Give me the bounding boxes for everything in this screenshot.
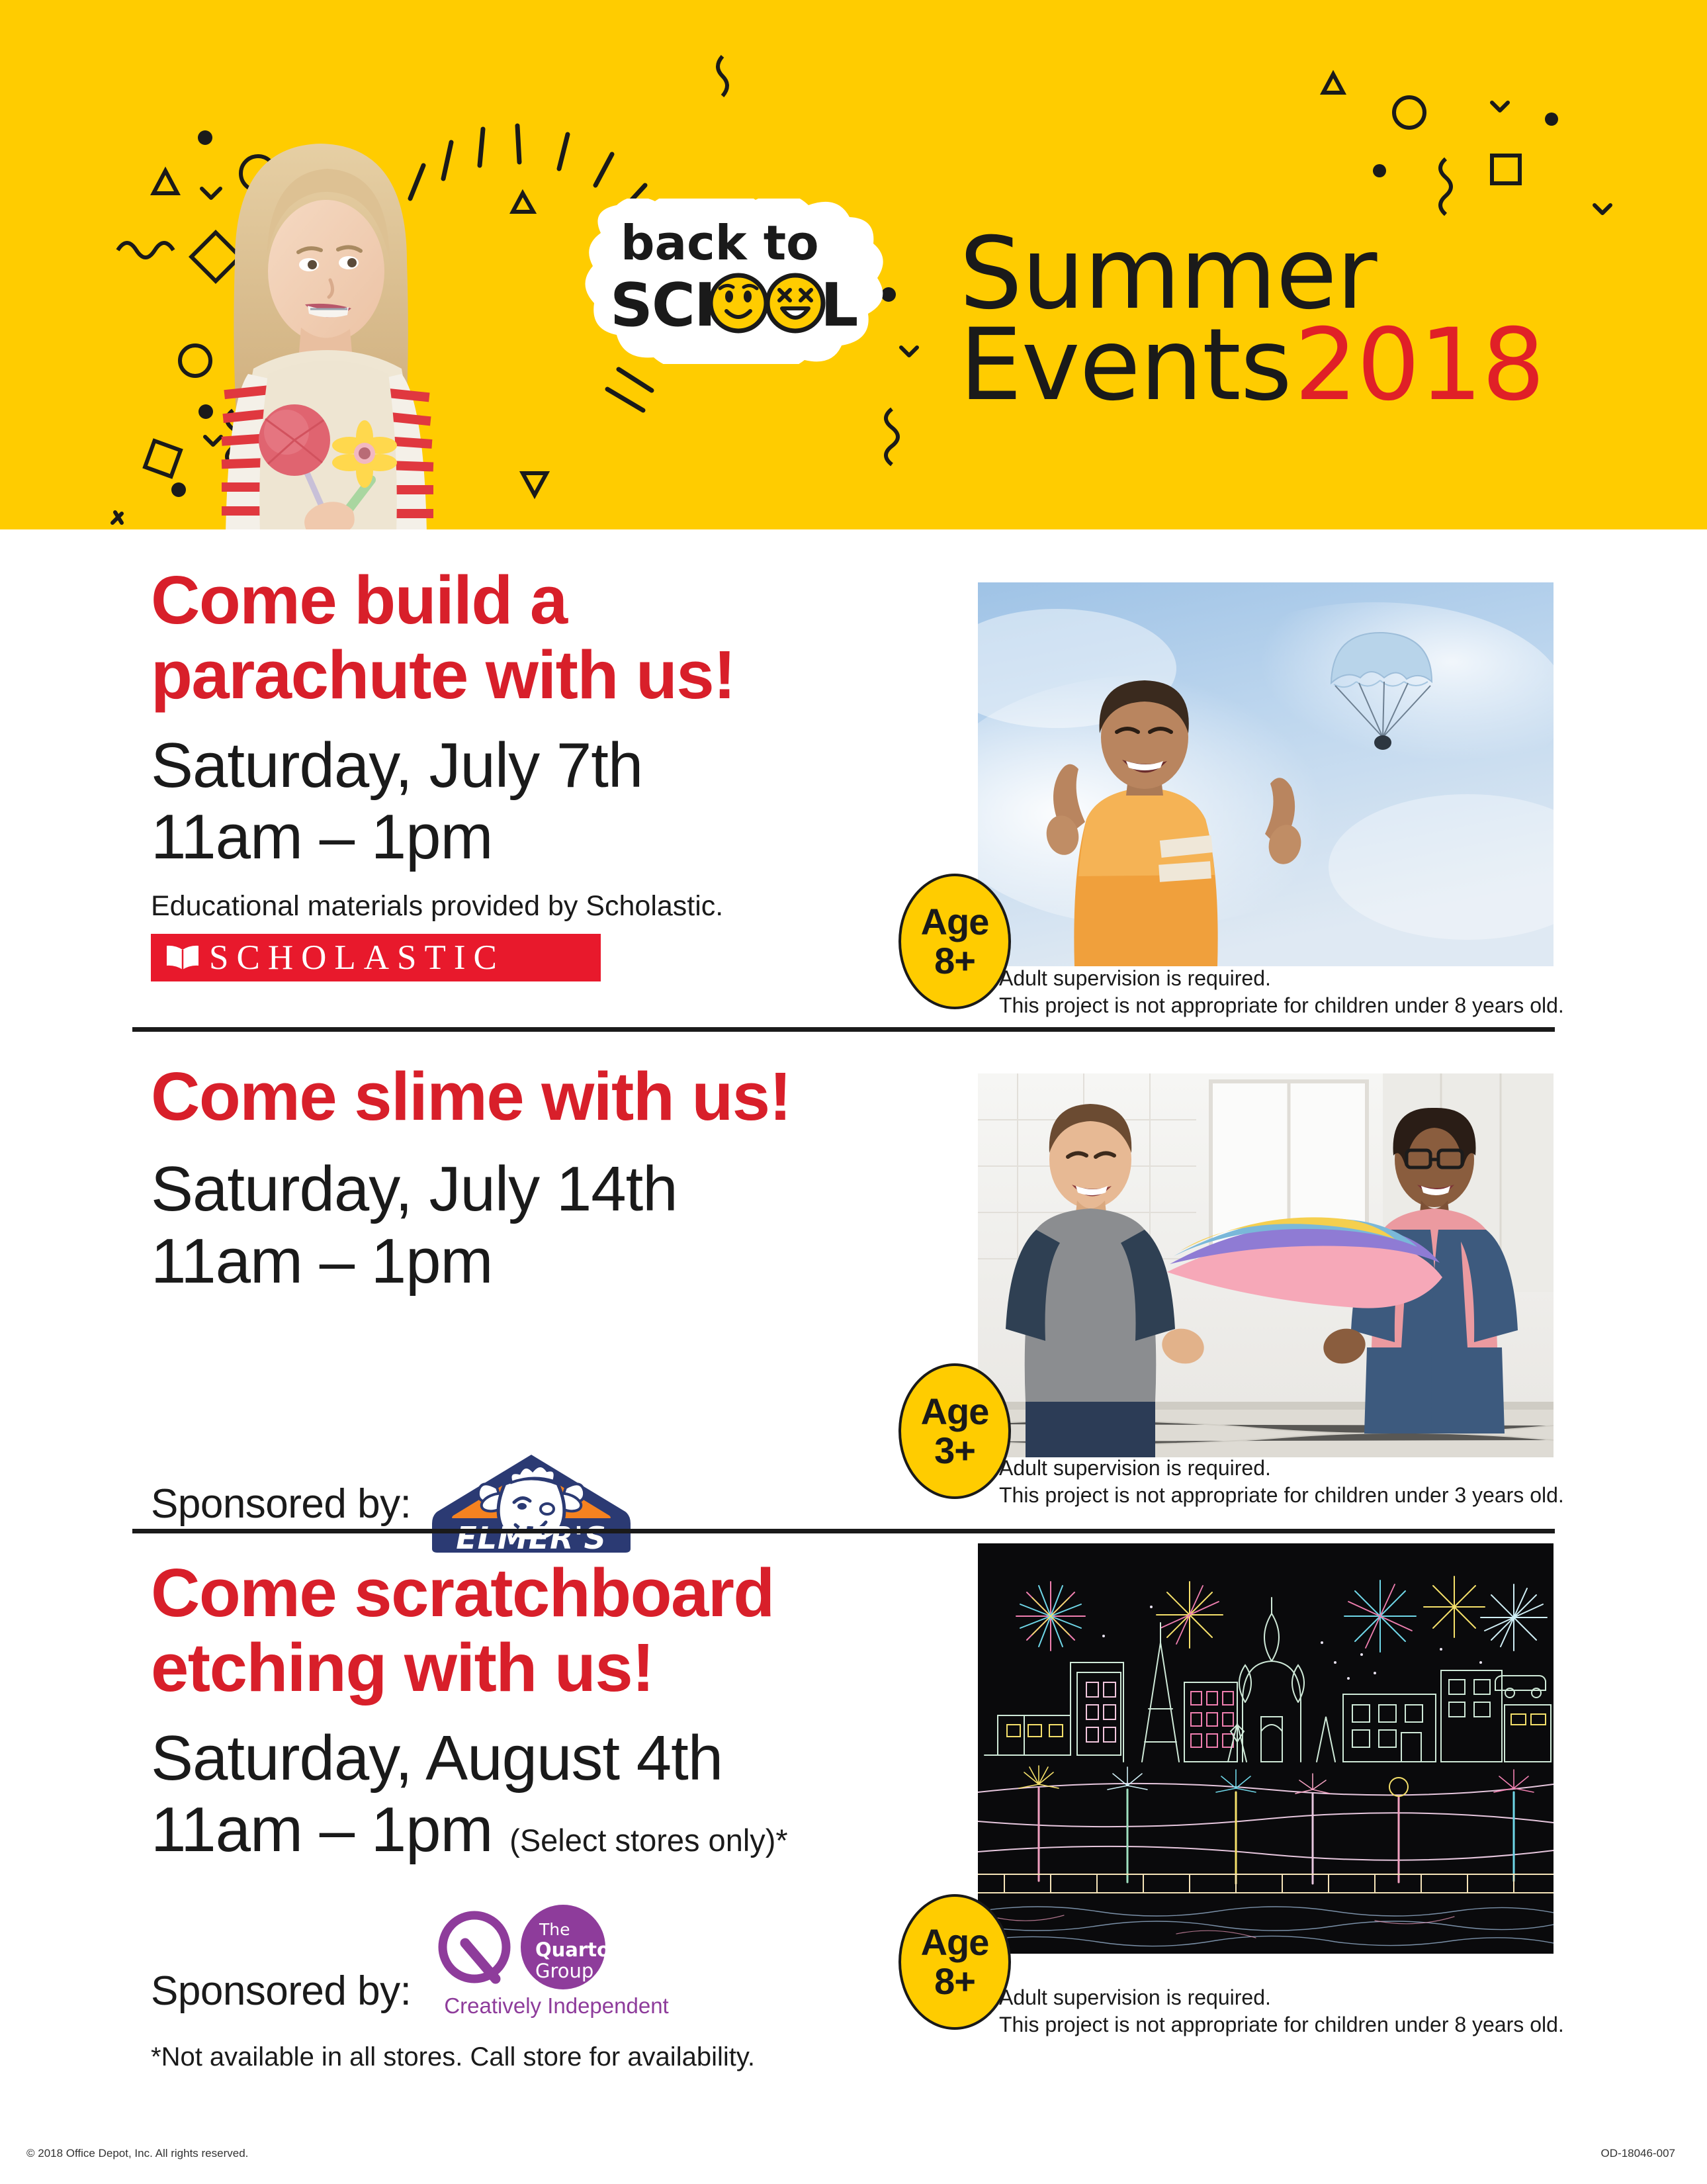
event-2-disclaimer: Adult supervision is required. This proj…: [999, 1455, 1564, 1509]
event-3-time: 11am – 1pm: [151, 1794, 493, 1865]
event-3-sponsor-label: Sponsored by:: [151, 1968, 411, 2019]
event-2-headline: Come slime with us!: [151, 1059, 932, 1134]
age-badge-label: Age: [921, 1392, 989, 1432]
divider-1: [132, 1027, 1555, 1032]
header-girl-photo: [169, 109, 473, 529]
age-badge-label: Age: [921, 1923, 989, 1962]
event-1-headline-line1: Come build a: [151, 563, 932, 637]
event-section-parachute: Come build a parachute with us! Saturday…: [0, 563, 1707, 1026]
event-3-disclaimer-line2: This project is not appropriate for chil…: [999, 2011, 1564, 2038]
event-2-sponsor-row: Sponsored by:: [151, 1451, 932, 1557]
sticker-line1-text: back to: [621, 215, 819, 271]
back-to-school-sticker: back to SCH: [582, 199, 953, 364]
age-badge-value: 3+: [934, 1432, 975, 1471]
event-3-disclaimer: Adult supervision is required. This proj…: [999, 1984, 1564, 2038]
event-2-disclaimer-line1: Adult supervision is required.: [999, 1455, 1564, 1482]
event-3-disclaimer-line1: Adult supervision is required.: [999, 1984, 1564, 2011]
age-badge-value: 8+: [934, 942, 975, 981]
title-line-summer: Summer: [959, 228, 1674, 320]
elmers-wordmark: ELMER'S: [457, 1520, 607, 1556]
event-2-disclaimer-line2: This project is not appropriate for chil…: [999, 1482, 1564, 1509]
event-1-subtext: Educational materials provided by Schola…: [151, 889, 932, 924]
event-1-disclaimer-line2: This project is not appropriate for chil…: [999, 992, 1564, 1019]
event-1-date: Saturday, July 7th: [151, 730, 932, 801]
event-1-headline-line2: parachute with us!: [151, 637, 932, 712]
event-2-text-block: Come slime with us! Saturday, July 14th …: [151, 1059, 932, 1557]
footer-copyright: © 2018 Office Depot, Inc. All rights res…: [26, 2147, 248, 2160]
header-title: Summer Events 2018: [959, 228, 1674, 411]
age-badge-value: 8+: [934, 1962, 975, 2001]
event-2-date: Saturday, July 14th: [151, 1154, 932, 1225]
svg-text:L: L: [820, 271, 858, 340]
event-1-photo: [978, 582, 1554, 966]
event-1-age-badge: Age 8+: [898, 874, 1011, 1009]
event-2-headline-line1: Come slime with us!: [151, 1059, 932, 1134]
event-3-headline: Come scratchboard etching with us!: [151, 1555, 932, 1706]
event-1-time: 11am – 1pm: [151, 801, 932, 873]
title-line-events: Events: [959, 308, 1291, 423]
event-3-text-block: Come scratchboard etching with us! Satur…: [151, 1555, 932, 2072]
event-3-footnote: *Not available in all stores. Call store…: [151, 2042, 932, 2072]
header-banner: back to SCH: [0, 0, 1707, 529]
event-1-disclaimer: Adult supervision is required. This proj…: [999, 965, 1564, 1019]
poster-root: back to SCH: [0, 0, 1707, 2184]
event-section-slime: Come slime with us! Saturday, July 14th …: [0, 1059, 1707, 1516]
elmers-logo: ELMER'S: [432, 1451, 631, 1557]
age-badge-label: Age: [921, 903, 989, 942]
event-1-headline: Come build a parachute with us!: [151, 563, 932, 713]
event-2-sponsor-label: Sponsored by:: [151, 1480, 411, 1527]
scholastic-wordmark: SCHOLASTIC: [209, 938, 505, 978]
scholastic-logo: SCHOLASTIC: [151, 934, 601, 981]
event-3-headline-line1: Come scratchboard: [151, 1555, 932, 1630]
event-3-age-badge: Age 8+: [898, 1894, 1011, 2030]
quarto-line3: Group: [535, 1960, 593, 1982]
title-year: 2018: [1294, 308, 1544, 423]
event-2-photo: [978, 1073, 1554, 1457]
event-3-headline-line2: etching with us!: [151, 1630, 932, 1705]
event-2-time: 11am – 1pm: [151, 1226, 932, 1297]
event-section-scratchboard: Come scratchboard etching with us! Satur…: [0, 1555, 1707, 2085]
event-3-time-row: 11am – 1pm (Select stores only)*: [151, 1794, 932, 1866]
quarto-group-logo: The Quarto Group: [433, 1905, 612, 1997]
event-1-disclaimer-line1: Adult supervision is required.: [999, 965, 1564, 992]
footer-code: OD-18046-007: [1601, 2147, 1675, 2160]
event-1-text-block: Come build a parachute with us! Saturday…: [151, 563, 932, 981]
event-3-select-note: (Select stores only)*: [509, 1823, 788, 1858]
open-book-icon: [165, 944, 200, 971]
event-3-date: Saturday, August 4th: [151, 1723, 932, 1794]
event-3-sponsor-row: Sponsored by: The Quarto Group: [151, 1905, 932, 2019]
quarto-line2: Quarto: [535, 1938, 610, 1961]
divider-2: [132, 1529, 1555, 1533]
event-3-photo: [978, 1543, 1554, 1954]
quarto-line1: The: [539, 1920, 570, 1939]
event-2-age-badge: Age 3+: [898, 1363, 1011, 1499]
